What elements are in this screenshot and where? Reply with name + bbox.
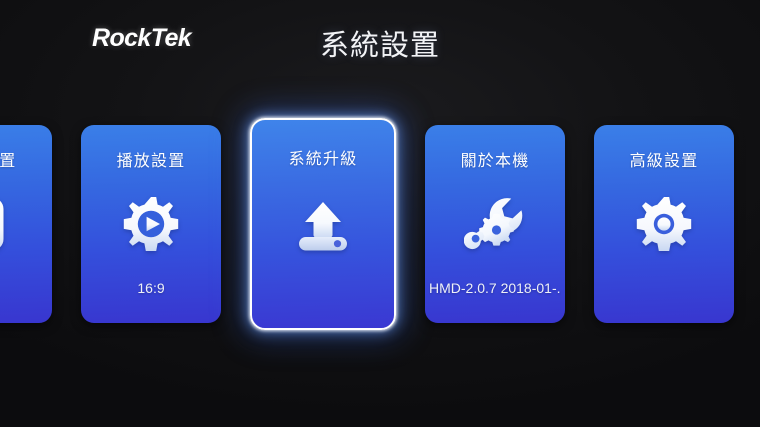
header: RockTek 系統設置 [0, 0, 760, 95]
settings-card-playback-settings[interactable]: 播放設置 16:9 [81, 125, 221, 323]
display-icon [0, 187, 52, 261]
wrench-gear-icon [425, 187, 565, 261]
settings-card-row: 顯示設置 60Hz 播放設置 [0, 125, 760, 335]
tv-settings-screen: RockTek 系統設置 顯示設置 [0, 0, 760, 427]
settings-card-system-upgrade[interactable]: 系統升級 [250, 118, 396, 330]
gear-play-icon [81, 187, 221, 261]
page-title: 系統設置 [0, 22, 760, 64]
upload-upgrade-icon [252, 188, 394, 262]
card-title: 系統升級 [252, 145, 394, 169]
settings-card-advanced-settings[interactable]: 高級設置 [594, 125, 734, 323]
gear-icon [594, 187, 734, 261]
card-value: 16:9 [85, 280, 217, 296]
card-title: 播放設置 [81, 147, 221, 171]
card-title: 高級設置 [594, 147, 734, 171]
card-value: HMD-2.0.7 2018-01-.. [429, 280, 561, 296]
settings-card-display-settings[interactable]: 顯示設置 60Hz [0, 125, 52, 323]
card-title: 顯示設置 [0, 147, 52, 171]
card-value: 60Hz [0, 280, 48, 296]
card-title: 關於本機 [425, 147, 565, 171]
settings-card-about-device[interactable]: 關於本機 [425, 125, 565, 323]
